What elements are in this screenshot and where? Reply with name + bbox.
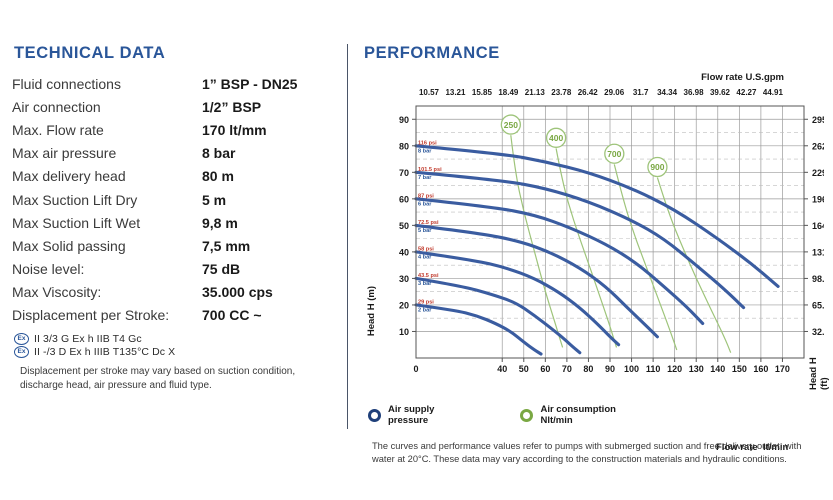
air-consumption-curve [614, 164, 677, 350]
x-axis-tick: 0 [413, 364, 418, 374]
displacement-note: Displacement per stroke may vary based o… [20, 365, 310, 393]
chart-svg: 250400700900 116 psi8 bar101.5 psi7 bar8… [364, 100, 824, 390]
y-axis-right-tick: 131.2 [812, 247, 824, 257]
atex-row: ExII -/3 D Ex h IIIB T135°C Dc X [14, 346, 342, 358]
spec-value: 7,5 mm [202, 234, 342, 257]
technical-data-title: TECHNICAL DATA [14, 44, 342, 63]
spec-value: 75 dB [202, 258, 342, 281]
y-axis-right-title: Head H (ft) [808, 348, 830, 390]
legend-item-air-consumption: Air consumptionNlt/min [520, 404, 615, 427]
spec-label: Max Suction Lift Dry [12, 188, 202, 211]
performance-note: The curves and performance values refer … [372, 440, 824, 466]
x-axis-tick: 90 [605, 364, 615, 374]
x-axis-tick: 170 [775, 364, 790, 374]
spec-label: Max air pressure [12, 142, 202, 165]
y-axis-right-tick: 32.8 [812, 327, 824, 337]
y-axis-left-tick: 40 [399, 247, 409, 257]
pressure-label-psi: 116 psi [418, 140, 437, 146]
pressure-label-psi: 87 psi [418, 193, 434, 199]
air-consumption-bubble-label: 400 [549, 133, 563, 143]
y-axis-left-tick: 20 [399, 300, 409, 310]
y-axis-left-tick: 10 [399, 327, 409, 337]
x-axis-tick: 60 [540, 364, 550, 374]
pressure-curve [416, 305, 541, 354]
y-axis-right-tick: 164 [812, 221, 824, 231]
pressure-label-bar: 2 bar [418, 307, 432, 313]
x-axis-tick: 70 [562, 364, 572, 374]
spec-label: Max Solid passing [12, 234, 202, 257]
spec-value: 5 m [202, 188, 342, 211]
spec-row: Max Viscosity:35.000 cps [12, 281, 342, 304]
y-axis-right-tick: 196.8 [812, 194, 824, 204]
spec-row: Max air pressure8 bar [12, 142, 342, 165]
spec-label: Noise level: [12, 258, 202, 281]
spec-label: Max Viscosity: [12, 281, 202, 304]
spec-row: Air connection1/2” BSP [12, 95, 342, 118]
legend-label: Air consumptionNlt/min [540, 404, 615, 427]
top-axis-tick: 18.49 [495, 88, 521, 97]
spec-label: Max. Flow rate [12, 118, 202, 141]
atex-text: II -/3 D Ex h IIIB T135°C Dc X [34, 346, 175, 358]
x-axis-tick: 130 [689, 364, 704, 374]
atex-marking-list: ExII 3/3 G Ex h IIB T4 GcExII -/3 D Ex h… [14, 333, 342, 358]
datasheet-page: TECHNICAL DATA Fluid connections1” BSP -… [0, 0, 833, 500]
atex-ex-icon: Ex [14, 346, 29, 358]
spec-label: Max delivery head [12, 165, 202, 188]
spec-row: Max Solid passing7,5 mm [12, 234, 342, 257]
x-axis-tick: 50 [519, 364, 529, 374]
top-axis-tick: 44.91 [760, 88, 786, 97]
pressure-label-bar: 7 bar [418, 175, 432, 181]
x-axis-tick: 40 [497, 364, 507, 374]
top-axis-tick: 31.7 [628, 88, 654, 97]
spec-value: 80 m [202, 165, 342, 188]
x-axis-tick: 150 [732, 364, 747, 374]
top-axis-tick: 23.78 [548, 88, 574, 97]
spec-value: 9,8 m [202, 211, 342, 234]
spec-label: Max Suction Lift Wet [12, 211, 202, 234]
pressure-label-psi: 101.5 psi [418, 167, 442, 173]
pressure-label-bar: 8 bar [418, 148, 432, 154]
spec-value: 1” BSP - DN25 [202, 72, 342, 95]
x-axis-tick: 80 [583, 364, 593, 374]
y-axis-left-tick: 60 [399, 194, 409, 204]
specifications-table: Fluid connections1” BSP - DN25Air connec… [12, 72, 342, 327]
atex-row: ExII 3/3 G Ex h IIB T4 Gc [14, 333, 342, 345]
y-axis-right-tick: 295.2 [812, 115, 824, 125]
spec-row: Max Suction Lift Dry5 m [12, 188, 342, 211]
legend-ring-icon [520, 409, 533, 422]
air-supply-pressure-curves [416, 146, 778, 354]
y-axis-right-ticks: 32.865.698.4131.2164196.8229.6262.4295.2 [804, 115, 824, 337]
spec-row: Max Suction Lift Wet9,8 m [12, 211, 342, 234]
top-axis-tick: 39.62 [707, 88, 733, 97]
top-axis-tick: 10.57 [416, 88, 442, 97]
pressure-label-bar: 4 bar [418, 254, 432, 260]
air-consumption-bubble-label: 700 [607, 149, 621, 159]
air-consumption-bubble-label: 250 [504, 120, 518, 130]
top-axis-ticks: 10.5713.2115.8518.4921.1323.7826.4229.06… [416, 88, 786, 97]
y-axis-left-tick: 50 [399, 221, 409, 231]
performance-chart: 250400700900 116 psi8 bar101.5 psi7 bar8… [364, 100, 824, 390]
top-axis-tick: 26.42 [575, 88, 601, 97]
y-axis-left-title: Head H (m) [366, 286, 377, 336]
y-axis-right-tick: 98.4 [812, 274, 824, 284]
chart-legend: Air supplypressureAir consumptionNlt/min [368, 404, 616, 427]
top-axis-tick: 29.06 [601, 88, 627, 97]
y-axis-left-tick: 30 [399, 274, 409, 284]
y-axis-left-tick: 80 [399, 141, 409, 151]
legend-label: Air supplypressure [388, 404, 434, 427]
x-axis-tick: 110 [646, 364, 661, 374]
y-axis-right-tick: 229.6 [812, 168, 824, 178]
y-axis-left-tick: 70 [399, 168, 409, 178]
spec-label: Fluid connections [12, 72, 202, 95]
pressure-label-bar: 5 bar [418, 228, 432, 234]
top-axis-tick: 13.21 [442, 88, 468, 97]
spec-row: Max. Flow rate170 lt/mm [12, 118, 342, 141]
top-axis-title: Flow rate U.S.gpm [701, 72, 784, 83]
spec-value: 1/2” BSP [202, 95, 342, 118]
spec-value: 8 bar [202, 142, 342, 165]
spec-label: Displacement per Stroke: [12, 304, 202, 327]
pressure-label-psi: 58 psi [418, 246, 434, 252]
y-axis-left-tick: 90 [399, 115, 409, 125]
top-axis-tick: 42.27 [733, 88, 759, 97]
atex-ex-icon: Ex [14, 333, 29, 345]
spec-value: 35.000 cps [202, 281, 342, 304]
spec-value: 170 lt/mm [202, 118, 342, 141]
spec-value: 700 CC ~ [202, 304, 342, 327]
pressure-label-psi: 72.5 psi [418, 220, 439, 226]
y-axis-left-ticks: 102030405060708090 [399, 115, 416, 337]
spec-row: Fluid connections1” BSP - DN25 [12, 72, 342, 95]
spec-row: Noise level:75 dB [12, 258, 342, 281]
top-axis-tick: 21.13 [522, 88, 548, 97]
y-axis-right-tick: 65.6 [812, 300, 824, 310]
x-axis-tick: 100 [624, 364, 639, 374]
top-axis-tick: 34.34 [654, 88, 680, 97]
pressure-label-psi: 43.5 psi [418, 273, 439, 279]
legend-item-air-supply-pressure: Air supplypressure [368, 404, 434, 427]
panel-divider [347, 44, 348, 429]
x-axis-tick: 160 [753, 364, 768, 374]
air-consumption-bubble-label: 900 [650, 162, 664, 172]
performance-title: PERFORMANCE [364, 44, 824, 63]
spec-label: Air connection [12, 95, 202, 118]
spec-row: Displacement per Stroke:700 CC ~ [12, 304, 342, 327]
atex-text: II 3/3 G Ex h IIB T4 Gc [34, 333, 142, 345]
performance-panel: PERFORMANCE Flow rate U.S.gpm 10.5713.21… [364, 44, 824, 67]
x-axis-tick: 120 [667, 364, 682, 374]
pressure-curve [416, 146, 778, 287]
spec-row: Max delivery head80 m [12, 165, 342, 188]
legend-ring-icon [368, 409, 381, 422]
pressure-label-bar: 3 bar [418, 281, 432, 287]
technical-data-panel: TECHNICAL DATA Fluid connections1” BSP -… [12, 44, 342, 393]
x-axis-tick: 140 [710, 364, 725, 374]
pressure-label-bar: 6 bar [418, 201, 432, 207]
y-axis-right-tick: 262.4 [812, 141, 824, 151]
pressure-label-psi: 29 psi [418, 299, 434, 305]
x-axis-ticks: 0405060708090100110120130140150160170 [413, 358, 789, 374]
top-axis-tick: 36.98 [681, 88, 707, 97]
top-axis-tick: 15.85 [469, 88, 495, 97]
